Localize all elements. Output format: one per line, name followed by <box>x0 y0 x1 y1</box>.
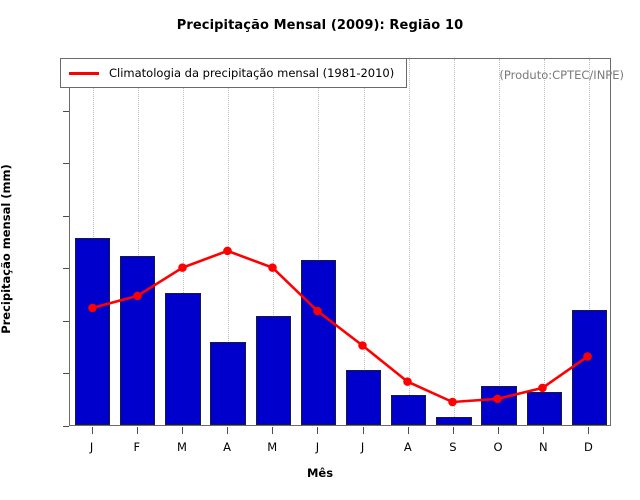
x-axis-tick-label: J <box>77 440 107 454</box>
x-axis-tick-mark <box>317 427 318 434</box>
x-axis-tick-label: O <box>483 440 513 454</box>
x-axis-tick-mark <box>182 427 183 434</box>
x-axis-tick-mark <box>498 427 499 434</box>
climatology-point-M-4 <box>268 263 277 272</box>
climatology-point-D-11 <box>583 352 592 361</box>
x-axis-tick-label: M <box>257 440 287 454</box>
climatology-line-series <box>70 59 610 425</box>
chart-legend: Climatologia da precipitação mensal (198… <box>60 58 407 88</box>
x-axis-tick-label: F <box>122 440 152 454</box>
climatology-point-J-0 <box>88 304 97 313</box>
x-axis-tick-mark <box>588 427 589 434</box>
x-axis-tick-label: A <box>393 440 423 454</box>
legend-entry-label: Climatologia da precipitação mensal (198… <box>109 66 394 80</box>
x-axis-tick-mark <box>92 427 93 434</box>
climatology-point-A-3 <box>223 247 232 256</box>
x-axis-tick-mark <box>363 427 364 434</box>
chart-title: Precipitação Mensal (2009): Região 10 <box>0 18 640 33</box>
climatology-point-J-6 <box>358 341 367 350</box>
x-axis-tick-mark <box>408 427 409 434</box>
x-axis-tick-mark <box>543 427 544 434</box>
y-axis-label: Precipitação mensal (mm) <box>0 149 13 349</box>
produto-annotation: (Produto:CPTEC/INPE) <box>499 68 624 82</box>
legend-line-swatch-icon <box>69 72 99 75</box>
climatology-point-N-10 <box>538 384 547 393</box>
x-axis-label: Mês <box>0 466 640 480</box>
x-axis-tick-mark <box>227 427 228 434</box>
x-axis-tick-mark <box>137 427 138 434</box>
climatology-point-O-9 <box>493 395 502 404</box>
precipitation-chart-figure: Precipitação Mensal (2009): Região 10 Pr… <box>0 0 640 500</box>
climatology-point-J-5 <box>313 307 322 316</box>
plot-area <box>69 58 611 426</box>
climatology-point-F-1 <box>133 292 142 301</box>
x-axis-tick-label: A <box>212 440 242 454</box>
x-axis-tick-mark <box>453 427 454 434</box>
climatology-point-M-2 <box>178 263 187 272</box>
x-axis-tick-label: N <box>528 440 558 454</box>
x-axis-tick-mark <box>272 427 273 434</box>
climatology-polyline <box>93 251 588 402</box>
x-axis-tick-label: M <box>167 440 197 454</box>
x-axis-tick-label: J <box>348 440 378 454</box>
y-axis-tick-mark <box>63 426 69 427</box>
climatology-point-A-7 <box>403 377 412 386</box>
climatology-point-S-8 <box>448 398 457 407</box>
x-axis-tick-label: J <box>302 440 332 454</box>
x-axis-tick-label: D <box>573 440 603 454</box>
x-axis-tick-label: S <box>438 440 468 454</box>
